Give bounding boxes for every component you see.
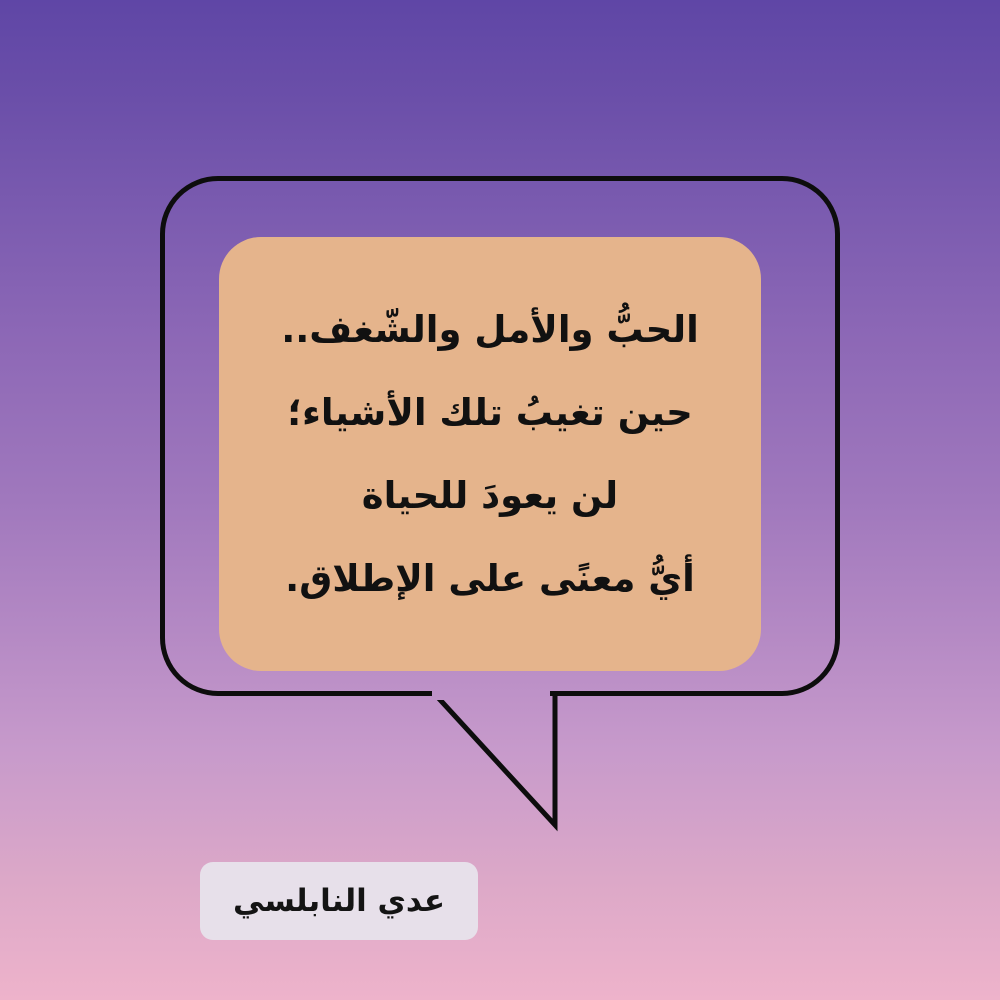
author-badge: عدي النابلسي xyxy=(200,862,478,940)
quote-line-4: أيُّ معنًى على الإطلاق. xyxy=(285,560,695,597)
quote-line-2: حين تغيبُ تلك الأشياء؛ xyxy=(287,394,693,431)
quote-panel: الحبُّ والأمل والشّغف.. حين تغيبُ تلك ال… xyxy=(219,237,761,671)
quote-line-3: لن يعودَ للحياة xyxy=(362,477,618,514)
quote-card-canvas: الحبُّ والأمل والشّغف.. حين تغيبُ تلك ال… xyxy=(0,0,1000,1000)
tail-gap-mask xyxy=(432,686,550,700)
quote-line-1: الحبُّ والأمل والشّغف.. xyxy=(281,311,699,348)
author-name: عدي النابلسي xyxy=(233,886,445,917)
